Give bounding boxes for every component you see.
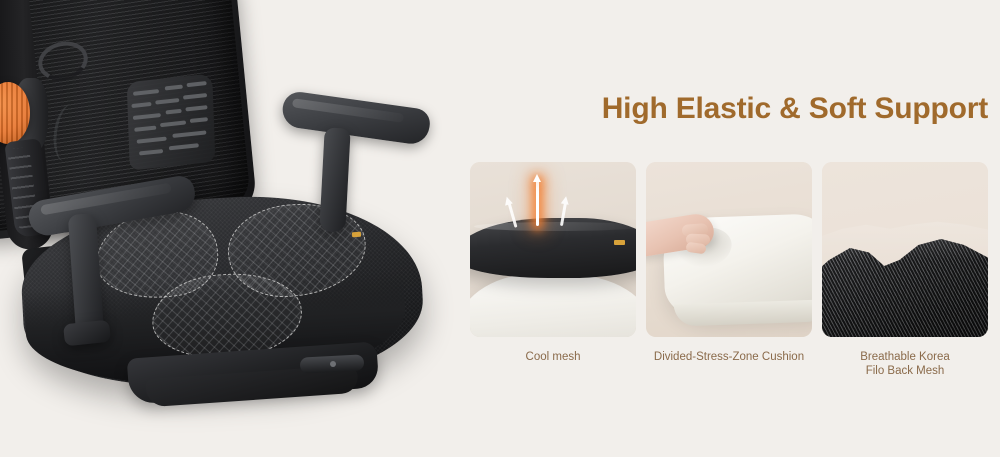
chair-hero-image [0,0,460,457]
feature-panel: High Elastic & Soft Support Cool mesh [460,0,1000,457]
brand-tag [352,232,361,238]
feature-card-list: Cool mesh Divided-Stress-Zone Cushion [470,162,988,378]
lumbar-vent-panel [127,73,216,170]
feature-image-cushion [646,162,812,337]
feature-image-back-mesh [822,162,988,337]
brand-tag [614,240,625,245]
tilt-lever-button [330,361,336,367]
feature-image-cool-mesh [470,162,636,337]
feature-card-cool-mesh[interactable]: Cool mesh [470,162,636,378]
feature-caption: Divided-Stress-Zone Cushion [646,350,812,364]
feature-card-korea-filo-mesh[interactable]: Breathable Korea Filo Back Mesh [822,162,988,378]
cushion-front-edge [674,299,812,326]
foam-base-layer [470,274,636,337]
feature-caption: Cool mesh [470,350,636,364]
feature-caption-line-1: Breathable Korea [822,350,988,364]
page-title: High Elastic & Soft Support [460,92,988,126]
armrest-stem-far [319,127,350,232]
marketing-banner: High Elastic & Soft Support Cool mesh [0,0,1000,457]
feature-caption-line-2: Filo Back Mesh [822,364,988,378]
mesh-highlight [474,222,636,231]
airflow-arrow-center-icon [536,180,539,226]
feature-caption: Breathable Korea Filo Back Mesh [822,350,988,378]
feature-card-divided-stress-zone-cushion[interactable]: Divided-Stress-Zone Cushion [646,162,812,378]
